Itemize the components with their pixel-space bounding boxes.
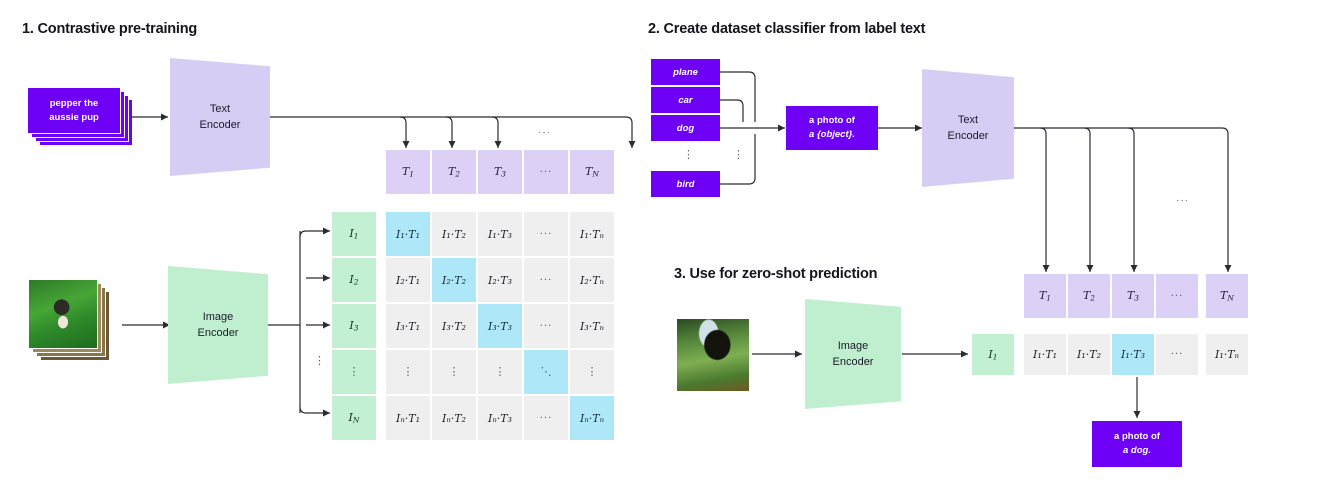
cell-label: TN <box>1220 289 1234 302</box>
prompt-line-1: a photo of <box>809 114 855 128</box>
label-connector-ellipsis: ⋮ <box>733 152 744 158</box>
cell-label: ··· <box>540 229 553 240</box>
image-encoder3-label-line1: Image <box>838 338 869 355</box>
matrix-cell-r1-c1: I₁·T₁ <box>386 212 430 256</box>
classifier-feature-cell-3: T3 <box>1112 274 1154 318</box>
cell-label: I₃·T₂ <box>442 320 466 333</box>
cell-label: TN <box>585 165 599 178</box>
panel-2-title: 2. Create dataset classifier from label … <box>648 21 925 37</box>
matrix-cell-r5-c4: ··· <box>524 396 568 440</box>
matrix-cell-r1-c2: I₁·T₂ <box>432 212 476 256</box>
cell-label: I1 <box>349 227 358 240</box>
cell-label: I₂·T₁ <box>396 274 420 287</box>
cell-label: I₃·Tₙ <box>580 320 604 333</box>
panel-1-title: 1. Contrastive pre-training <box>22 21 197 37</box>
prompt-line-2: a {object}. <box>809 128 855 142</box>
text-encoder-panel1: Text Encoder <box>170 58 270 176</box>
text-branch-ellipsis: ··· <box>538 127 551 138</box>
image-feature-cell-5: IN <box>332 396 376 440</box>
cell-label: IN <box>349 411 360 424</box>
label-item-bird: bird <box>651 171 720 197</box>
image-feature-cell-3: I3 <box>332 304 376 348</box>
image-encoder3-label-line2: Encoder <box>833 354 874 371</box>
cell-label: T3 <box>494 165 506 178</box>
image-feature-cell-1: I1 <box>332 212 376 256</box>
cell-label: I₁·T₁ <box>1033 348 1057 361</box>
matrix-cell-r2-c3: I₂·T₃ <box>478 258 522 302</box>
matrix-cell-r1-c4: ··· <box>524 212 568 256</box>
text-encoder-panel2: Text Encoder <box>922 69 1014 187</box>
cell-label: ⋮ <box>403 369 414 375</box>
text-feature-cell-2: T2 <box>432 150 476 194</box>
score-cell-1: I₁·T₁ <box>1024 334 1066 375</box>
cell-label: I₁·T₂ <box>1077 348 1101 361</box>
cell-label: T3 <box>1127 289 1139 302</box>
matrix-cell-r3-c5: I₃·Tₙ <box>570 304 614 348</box>
cell-label: Iₙ·T₂ <box>442 412 466 425</box>
matrix-cell-r4-c4: ⋱ <box>524 350 568 394</box>
cell-label: ⋱ <box>541 369 552 375</box>
label-list-ellipsis: ⋮ <box>683 152 694 158</box>
cell-label: Iₙ·T₁ <box>396 412 420 425</box>
classifier-branch-ellipsis: ··· <box>1176 195 1189 206</box>
matrix-cell-r4-c3: ⋮ <box>478 350 522 394</box>
text-feature-cell-5: TN <box>570 150 614 194</box>
cell-label: I₁·T₃ <box>1121 348 1145 361</box>
cell-label: ··· <box>540 167 553 178</box>
prediction-result-box: a photo of a dog. <box>1092 421 1182 467</box>
cell-label: I2 <box>349 273 358 286</box>
image-branch-ellipsis: ⋮ <box>314 358 325 364</box>
cell-label: I₁·Tₙ <box>580 228 604 241</box>
matrix-cell-r2-c5: I₂·Tₙ <box>570 258 614 302</box>
cell-label: Iₙ·T₃ <box>488 412 512 425</box>
cell-label: I₁·T₂ <box>442 228 466 241</box>
result-line-1: a photo of <box>1114 430 1160 444</box>
score-cell-2: I₁·T₂ <box>1068 334 1110 375</box>
caption-line-1: pepper the <box>50 97 99 111</box>
cell-label: I₃·T₁ <box>396 320 420 333</box>
score-cell-5: I₁·Tₙ <box>1206 334 1248 375</box>
cell-label: ⋮ <box>495 369 506 375</box>
query-feature-label: I1 <box>988 348 997 361</box>
image-feature-cell-4: ⋮ <box>332 350 376 394</box>
cell-label: I₁·Tₙ <box>1215 348 1239 361</box>
text-encoder2-label-line2: Encoder <box>948 128 989 145</box>
label-item-dog: dog <box>651 115 720 141</box>
cell-label: ⋮ <box>587 369 598 375</box>
cell-label: I₁·T₃ <box>488 228 512 241</box>
matrix-cell-r1-c5: I₁·Tₙ <box>570 212 614 256</box>
panel-3-title: 3. Use for zero-shot prediction <box>674 266 877 282</box>
classifier-feature-cell-1: T1 <box>1024 274 1066 318</box>
image-encoder-panel1: Image Encoder <box>168 266 268 384</box>
label-item-car: car <box>651 87 720 113</box>
matrix-cell-r3-c3: I₃·T₃ <box>478 304 522 348</box>
matrix-cell-r4-c2: ⋮ <box>432 350 476 394</box>
image-encoder-label-line2: Encoder <box>198 325 239 342</box>
classifier-feature-cell-4: ··· <box>1156 274 1198 318</box>
matrix-cell-r3-c1: I₃·T₁ <box>386 304 430 348</box>
matrix-cell-r4-c5: ⋮ <box>570 350 614 394</box>
caption-line-2: aussie pup <box>49 111 99 125</box>
text-feature-cell-3: T3 <box>478 150 522 194</box>
cell-label: T2 <box>448 165 460 178</box>
text-encoder-label-line1: Text <box>210 101 230 118</box>
matrix-cell-r5-c1: Iₙ·T₁ <box>386 396 430 440</box>
result-line-2: a dog. <box>1123 444 1151 458</box>
training-image-thumbnail <box>29 280 97 348</box>
matrix-cell-r4-c1: ⋮ <box>386 350 430 394</box>
matrix-cell-r5-c5: Iₙ·Tₙ <box>570 396 614 440</box>
score-cell-4: ··· <box>1156 334 1198 375</box>
matrix-cell-r5-c2: Iₙ·T₂ <box>432 396 476 440</box>
cell-label: I₂·T₂ <box>442 274 466 287</box>
cell-label: ··· <box>540 321 553 332</box>
query-image-feature-cell: I1 <box>972 334 1014 375</box>
query-image-thumbnail <box>677 319 749 391</box>
cell-label: I₁·T₁ <box>396 228 420 241</box>
text-encoder2-label-line1: Text <box>958 112 978 129</box>
cell-label: I3 <box>349 319 358 332</box>
cell-label: Iₙ·Tₙ <box>580 412 604 425</box>
text-feature-cell-1: T1 <box>386 150 430 194</box>
image-encoder-panel3: Image Encoder <box>805 299 901 409</box>
cell-label: T1 <box>1039 289 1051 302</box>
cell-label: ··· <box>1171 291 1184 302</box>
cell-label: ⋮ <box>349 369 360 375</box>
matrix-cell-r2-c1: I₂·T₁ <box>386 258 430 302</box>
matrix-cell-r3-c4: ··· <box>524 304 568 348</box>
text-encoder-label-line2: Encoder <box>200 117 241 134</box>
text-feature-cell-4: ··· <box>524 150 568 194</box>
prompt-template-box: a photo of a {object}. <box>786 106 878 150</box>
matrix-cell-r5-c3: Iₙ·T₃ <box>478 396 522 440</box>
cell-label: I₃·T₃ <box>488 320 512 333</box>
cell-label: ··· <box>540 275 553 286</box>
matrix-cell-r2-c2: I₂·T₂ <box>432 258 476 302</box>
classifier-feature-cell-2: T2 <box>1068 274 1110 318</box>
label-item-plane: plane <box>651 59 720 85</box>
matrix-cell-r1-c3: I₁·T₃ <box>478 212 522 256</box>
cell-label: I₂·Tₙ <box>580 274 604 287</box>
cell-label: ⋮ <box>449 369 460 375</box>
cell-label: T1 <box>402 165 414 178</box>
cell-label: I₂·T₃ <box>488 274 512 287</box>
matrix-cell-r3-c2: I₃·T₂ <box>432 304 476 348</box>
score-cell-3: I₁·T₃ <box>1112 334 1154 375</box>
classifier-feature-cell-5: TN <box>1206 274 1248 318</box>
cell-label: ··· <box>1171 349 1184 360</box>
cell-label: T2 <box>1083 289 1095 302</box>
cell-label: ··· <box>540 413 553 424</box>
image-feature-cell-2: I2 <box>332 258 376 302</box>
text-caption-box: pepper the aussie pup <box>28 88 120 133</box>
matrix-cell-r2-c4: ··· <box>524 258 568 302</box>
image-encoder-label-line1: Image <box>203 309 234 326</box>
